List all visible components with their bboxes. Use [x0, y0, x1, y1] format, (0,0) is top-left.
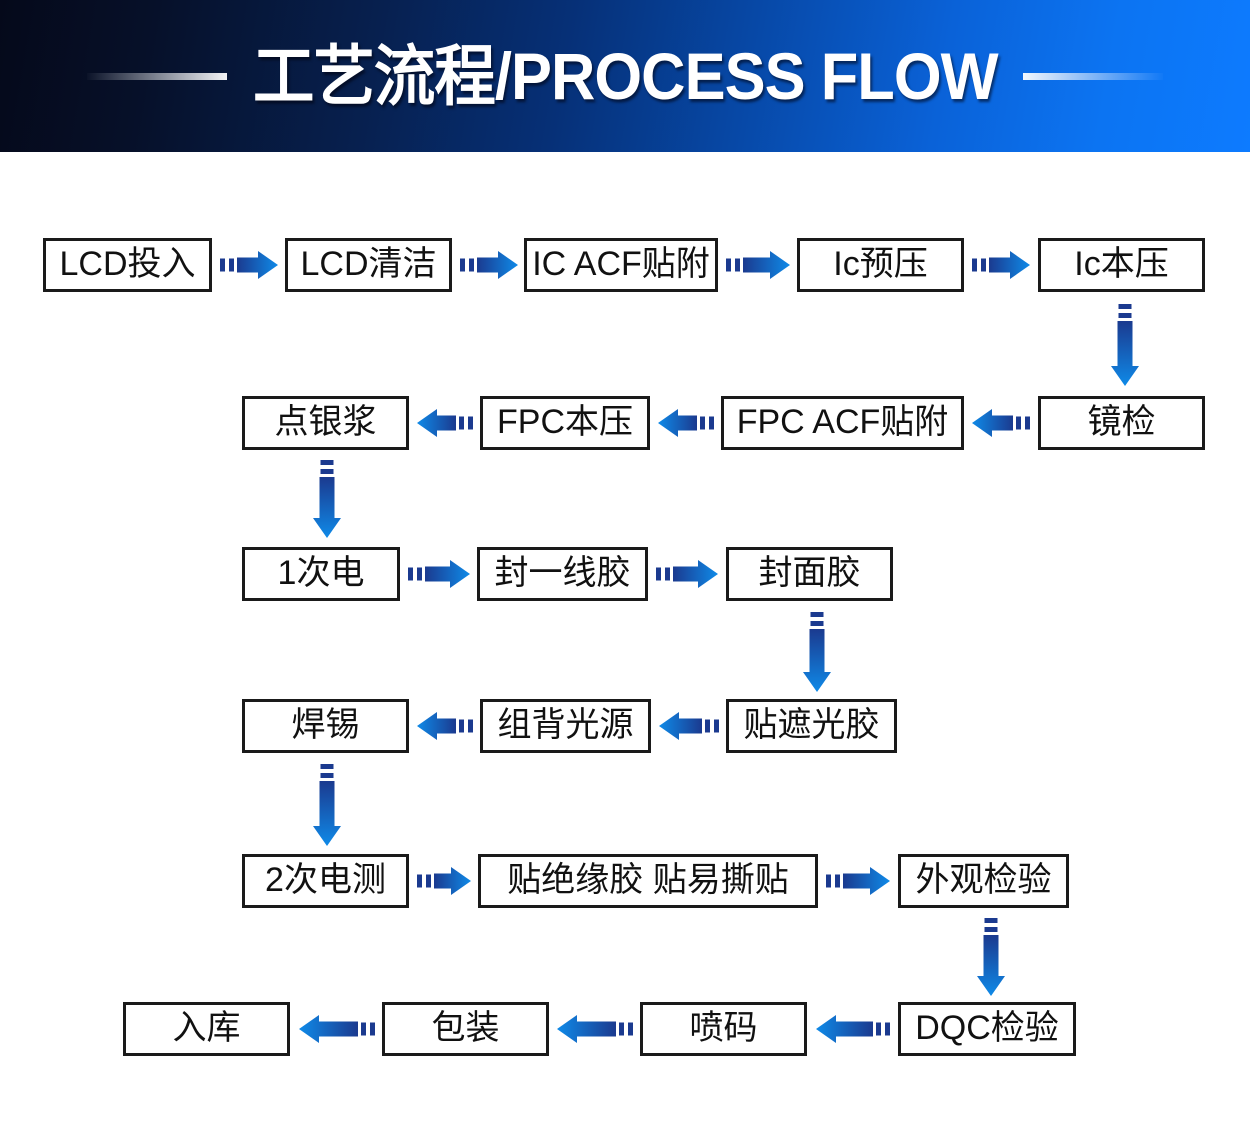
flow-node-label: FPC本压: [497, 405, 633, 439]
flow-node-warehouse: 入库: [123, 1002, 290, 1056]
flow-arrow-microscope-to-fpc-acf: [972, 408, 1030, 438]
arrow-tick: [417, 875, 422, 888]
arrow-body: [989, 251, 1030, 279]
arrow-body: [434, 867, 471, 895]
flow-node-label: 2次电测: [265, 863, 386, 897]
flow-node-label: 1次电: [278, 556, 365, 590]
arrow-tick: [981, 259, 986, 272]
flow-node-label: DQC检验: [915, 1011, 1059, 1045]
flow-node-label: 外观检验: [916, 863, 1052, 897]
arrow-body: [417, 712, 456, 740]
arrow-tick: [700, 417, 705, 430]
arrow-tick: [656, 568, 661, 581]
flow-arrow-ic-main-press-to-microscope: [1110, 304, 1140, 386]
page-banner: 工艺流程/PROCESS FLOW: [0, 0, 1250, 152]
flow-node-label: 封面胶: [759, 556, 861, 590]
flow-node-microscope: 镜检: [1038, 396, 1205, 450]
arrow-tick: [468, 720, 473, 733]
flow-node-soldering: 焊锡: [242, 699, 409, 753]
arrow-tick: [811, 621, 824, 626]
flow-node-label: 贴遮光胶: [744, 708, 880, 742]
arrow-tick: [714, 720, 719, 733]
flow-node-code-spray: 喷码: [640, 1002, 807, 1056]
arrow-tick: [468, 417, 473, 430]
arrow-body: [843, 867, 890, 895]
flow-arrow-soldering-to-second-power: [312, 764, 342, 846]
flow-arrow-lcd-input-to-lcd-clean: [220, 250, 278, 280]
arrow-tick: [619, 1023, 624, 1036]
arrow-body: [816, 1015, 873, 1043]
flow-node-lcd-input: LCD投入: [43, 238, 212, 292]
flow-arrow-ic-pre-press-to-ic-main-press: [972, 250, 1030, 280]
arrow-body: [313, 781, 341, 846]
arrow-tick: [726, 259, 731, 272]
banner-content: 工艺流程/PROCESS FLOW: [0, 0, 1250, 152]
arrow-tick: [1016, 417, 1021, 430]
flow-node-label: FPC ACF贴附: [737, 405, 949, 439]
arrow-tick: [709, 417, 714, 430]
flow-node-label: IC ACF贴附: [532, 247, 710, 281]
arrow-tick: [426, 875, 431, 888]
arrow-body: [299, 1015, 358, 1043]
flow-node-label: 点银浆: [275, 405, 377, 439]
flow-node-label: 入库: [173, 1011, 241, 1045]
arrow-body: [977, 935, 1005, 996]
process-flow-page: 工艺流程/PROCESS FLOW LCD投入LCD清洁IC ACF贴附Ic预压…: [0, 0, 1250, 1126]
flow-arrow-cover-glue-to-light-block: [802, 612, 832, 692]
flow-node-label: 封一线胶: [495, 556, 631, 590]
arrow-tick: [460, 259, 465, 272]
flow-node-insulation: 贴绝缘胶 贴易撕贴: [478, 854, 818, 908]
flow-arrow-lcd-clean-to-ic-acf: [460, 250, 518, 280]
flow-node-dqc: DQC检验: [898, 1002, 1076, 1056]
arrow-tick: [628, 1023, 633, 1036]
arrow-tick: [972, 259, 977, 272]
flow-node-ic-pre-press: Ic预压: [797, 238, 964, 292]
flow-arrow-dqc-to-code-spray: [816, 1014, 890, 1044]
arrow-tick: [408, 568, 413, 581]
arrow-body: [803, 629, 831, 692]
flow-node-light-block: 贴遮光胶: [726, 699, 897, 753]
arrow-tick: [1119, 304, 1132, 309]
flow-arrow-first-power-to-seal-line-glue: [408, 559, 470, 589]
arrow-body: [1111, 321, 1139, 386]
arrow-tick: [985, 918, 998, 923]
flow-node-label: Ic本压: [1074, 247, 1168, 281]
flow-node-seal-line-glue: 封一线胶: [477, 547, 648, 601]
flow-arrow-fpc-acf-to-fpc-main-press: [658, 408, 714, 438]
flow-node-lcd-clean: LCD清洁: [285, 238, 452, 292]
flow-node-label: 焊锡: [292, 708, 360, 742]
arrow-body: [313, 477, 341, 538]
flow-node-first-power: 1次电: [242, 547, 400, 601]
arrow-body: [743, 251, 790, 279]
arrow-tick: [985, 927, 998, 932]
arrow-tick: [321, 469, 334, 474]
flow-arrow-second-power-to-insulation: [417, 866, 471, 896]
flow-node-cover-glue: 封面胶: [726, 547, 893, 601]
arrow-tick: [665, 568, 670, 581]
arrow-tick: [417, 568, 422, 581]
flow-node-label: LCD清洁: [300, 247, 436, 281]
flow-node-backlight-asm: 组背光源: [480, 699, 651, 753]
arrow-body: [237, 251, 278, 279]
flow-node-label: 镜检: [1088, 405, 1156, 439]
flow-node-ic-acf-attach: IC ACF贴附: [524, 238, 718, 292]
arrow-tick: [321, 773, 334, 778]
flow-node-second-power: 2次电测: [242, 854, 409, 908]
flow-node-silver-paste: 点银浆: [242, 396, 409, 450]
flow-arrow-code-spray-to-packaging: [557, 1014, 633, 1044]
arrow-tick: [1119, 313, 1132, 318]
arrow-tick: [876, 1023, 881, 1036]
flow-node-label: LCD投入: [59, 247, 195, 281]
arrow-body: [425, 560, 470, 588]
arrow-tick: [361, 1023, 366, 1036]
flow-node-ic-main-press: Ic本压: [1038, 238, 1205, 292]
page-title: 工艺流程/PROCESS FLOW: [249, 43, 1001, 109]
arrow-tick: [459, 417, 464, 430]
flow-arrow-backlight-to-soldering: [417, 711, 473, 741]
arrow-body: [557, 1015, 616, 1043]
arrow-body: [417, 409, 456, 437]
arrow-tick: [220, 259, 225, 272]
flow-arrow-appearance-to-dqc: [976, 918, 1006, 996]
flow-node-label: 喷码: [690, 1011, 758, 1045]
banner-rule-right: [1023, 73, 1163, 80]
arrow-tick: [370, 1023, 375, 1036]
arrow-tick: [321, 460, 334, 465]
flow-node-label: Ic预压: [833, 247, 927, 281]
flow-arrow-silver-paste-to-first-power: [312, 460, 342, 538]
flow-node-fpc-acf-attach: FPC ACF贴附: [721, 396, 964, 450]
flow-node-packaging: 包装: [382, 1002, 549, 1056]
arrow-body: [673, 560, 718, 588]
arrow-tick: [469, 259, 474, 272]
arrow-tick: [835, 875, 840, 888]
flow-node-fpc-main-press: FPC本压: [480, 396, 650, 450]
arrow-body: [972, 409, 1013, 437]
flow-node-label: 组背光源: [498, 708, 634, 742]
arrow-tick: [735, 259, 740, 272]
arrow-tick: [321, 764, 334, 769]
arrow-tick: [459, 720, 464, 733]
flow-arrow-seal-line-glue-to-cover-glue: [656, 559, 718, 589]
banner-rule-left: [87, 73, 227, 80]
arrow-body: [658, 409, 697, 437]
arrow-tick: [811, 612, 824, 617]
arrow-tick: [705, 720, 710, 733]
flow-arrow-light-block-to-backlight: [659, 711, 719, 741]
arrow-body: [477, 251, 518, 279]
flow-node-label: 贴绝缘胶 贴易撕贴: [507, 863, 788, 897]
arrow-tick: [229, 259, 234, 272]
arrow-tick: [826, 875, 831, 888]
arrow-tick: [1025, 417, 1030, 430]
flow-node-label: 包装: [432, 1011, 500, 1045]
arrow-body: [659, 712, 702, 740]
flow-arrow-insulation-to-appearance: [826, 866, 890, 896]
flow-node-appearance: 外观检验: [898, 854, 1069, 908]
flow-arrow-fpc-main-press-to-silver-paste: [417, 408, 473, 438]
flow-arrow-packaging-to-warehouse: [299, 1014, 375, 1044]
flow-arrow-ic-acf-to-ic-pre-press: [726, 250, 790, 280]
arrow-tick: [885, 1023, 890, 1036]
